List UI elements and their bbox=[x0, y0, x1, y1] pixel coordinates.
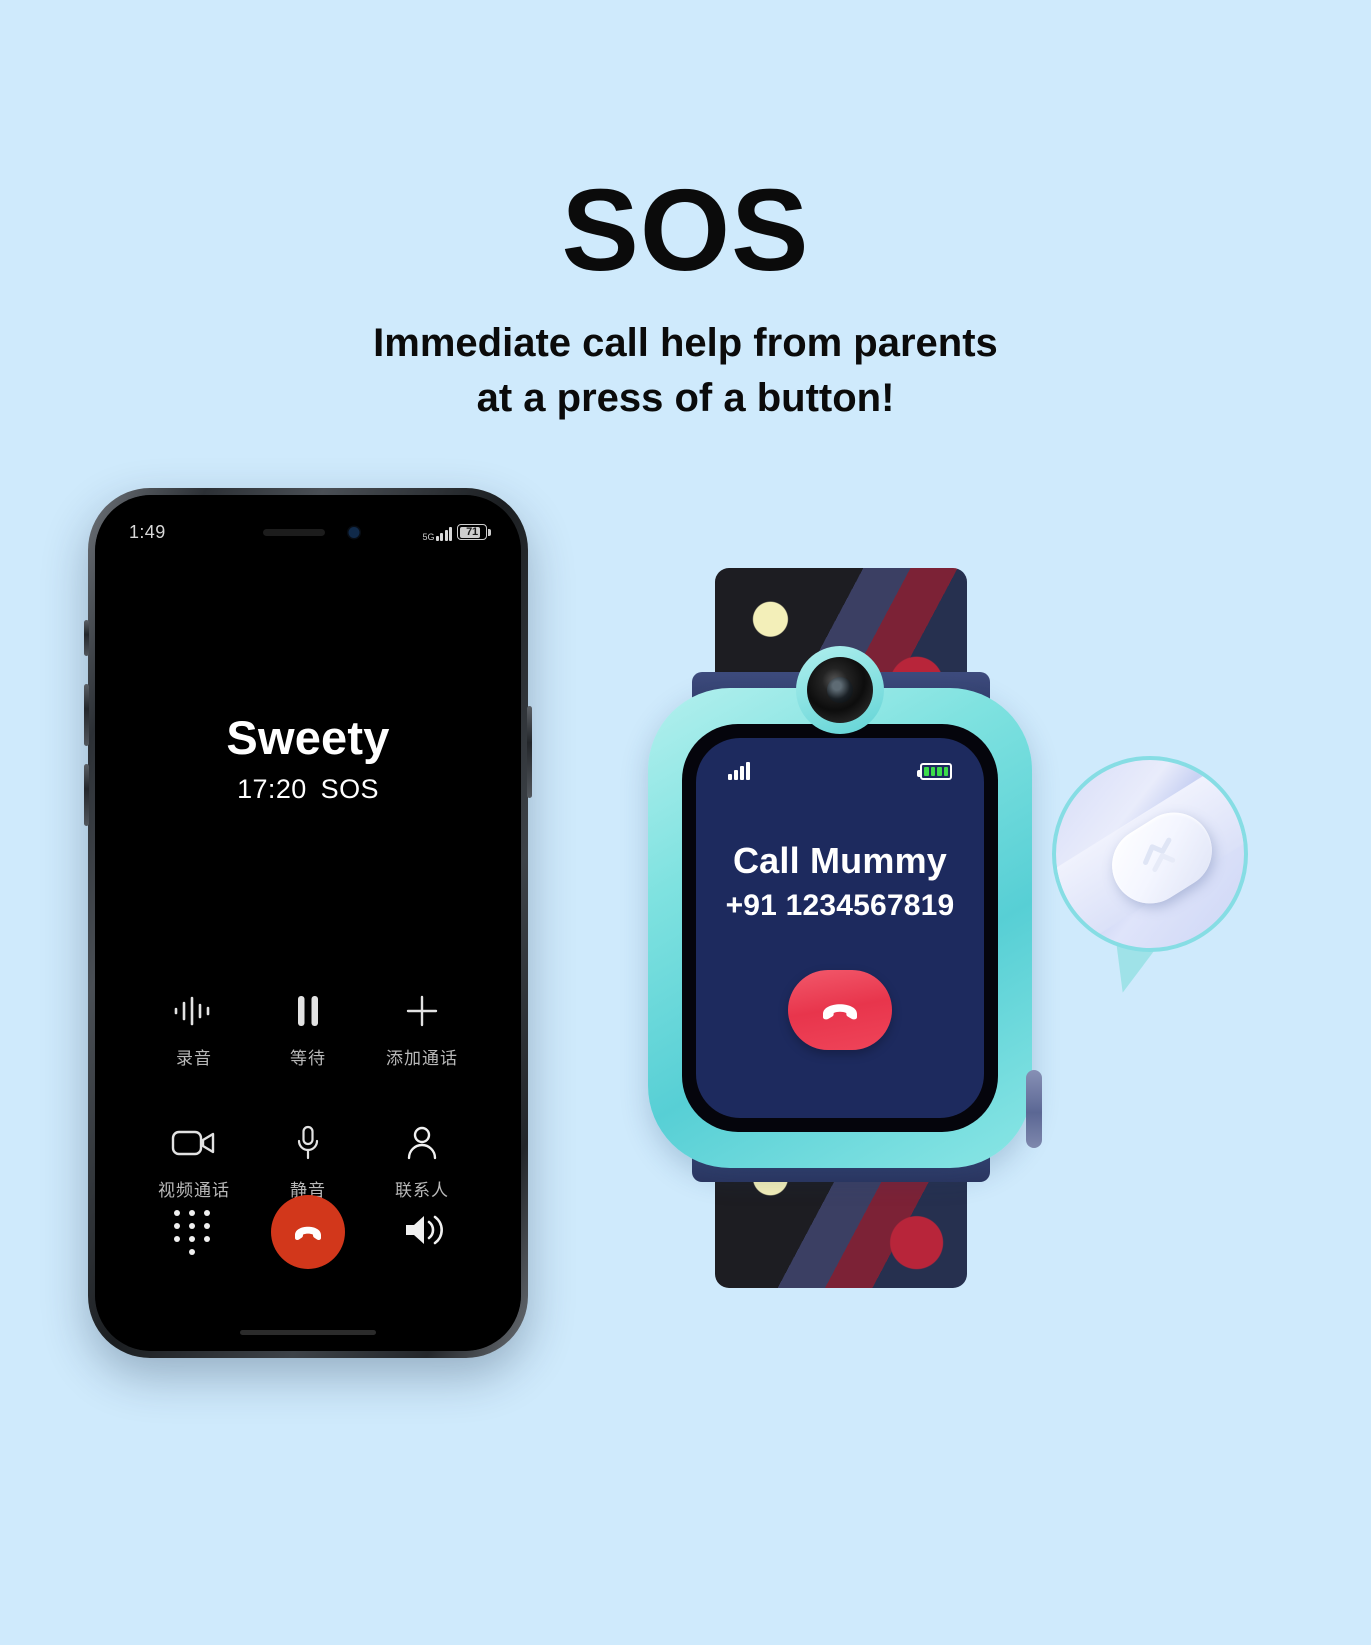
phone-bezel: 1:49 5G 71 bbox=[95, 495, 521, 1351]
call-action-video-call[interactable]: 视频通话 bbox=[137, 1125, 251, 1201]
signal-bars-icon: 5G bbox=[422, 523, 452, 541]
call-action-hold[interactable]: 等待 bbox=[251, 993, 365, 1069]
status-indicators: 5G 71 bbox=[422, 523, 487, 541]
smartphone-mockup: 1:49 5G 71 bbox=[88, 488, 528, 1358]
page-subtitle-line-2: at a press of a button! bbox=[0, 371, 1371, 426]
end-call-handset-icon bbox=[815, 987, 865, 1034]
watch-end-call-button[interactable] bbox=[788, 970, 892, 1050]
call-action-mute[interactable]: 静音 bbox=[251, 1125, 365, 1201]
record-waveform-icon bbox=[172, 993, 216, 1029]
network-type-label: 5G bbox=[422, 533, 434, 541]
phone-screen: 1:49 5G 71 bbox=[95, 495, 521, 1351]
call-status-line: 17:20SOS bbox=[95, 774, 521, 805]
call-bottom-bar bbox=[137, 1195, 479, 1269]
sos-side-button-icon[interactable] bbox=[1026, 1070, 1042, 1148]
call-duration: 17:20 bbox=[237, 774, 307, 804]
phone-status-bar: 1:49 5G 71 bbox=[95, 517, 521, 547]
signal-strength-bars bbox=[728, 762, 750, 780]
watch-screen: Call Mummy +91 1234567819 bbox=[696, 738, 984, 1118]
microphone-icon bbox=[295, 1125, 321, 1161]
call-action-add-call[interactable]: 添加通话 bbox=[365, 993, 479, 1069]
keypad-button[interactable] bbox=[137, 1210, 247, 1255]
page-header: SOS Immediate call help from parents at … bbox=[0, 0, 1371, 426]
signal-strength-bars bbox=[436, 527, 453, 541]
speaker-volume-icon bbox=[402, 1211, 446, 1254]
call-action-label: 录音 bbox=[176, 1044, 212, 1069]
video-camera-icon bbox=[171, 1125, 217, 1161]
phone-volume-up-button[interactable] bbox=[84, 684, 89, 746]
end-call-handset-icon bbox=[288, 1211, 328, 1254]
status-time: 1:49 bbox=[129, 522, 166, 543]
call-action-label: 添加通话 bbox=[386, 1044, 458, 1069]
watch-call-info: Call Mummy +91 1234567819 bbox=[696, 840, 984, 923]
call-action-record[interactable]: 录音 bbox=[137, 993, 251, 1069]
battery-icon bbox=[920, 763, 952, 780]
speaker-button[interactable] bbox=[369, 1211, 479, 1254]
page-title: SOS bbox=[0, 172, 1371, 288]
watch-bezel: Call Mummy +91 1234567819 bbox=[682, 724, 998, 1132]
sos-button-callout bbox=[1052, 756, 1248, 952]
phone-silent-switch[interactable] bbox=[84, 620, 89, 656]
watch-status-bar bbox=[696, 762, 984, 780]
call-action-contacts[interactable]: 联系人 bbox=[365, 1125, 479, 1201]
front-camera-icon bbox=[349, 527, 360, 538]
battery-percent-label: 71 bbox=[466, 526, 478, 538]
sos-glyph bbox=[1128, 825, 1196, 891]
call-actions-grid: 录音 等待 添加通话 bbox=[137, 993, 479, 1201]
phone-volume-down-button[interactable] bbox=[84, 764, 89, 826]
call-action-label: 等待 bbox=[290, 1044, 326, 1069]
camera-glass bbox=[827, 677, 853, 703]
signal-bars-icon bbox=[728, 762, 750, 780]
watch-case: Call Mummy +91 1234567819 bbox=[648, 688, 1032, 1168]
phone-body: 1:49 5G 71 bbox=[88, 488, 528, 1358]
plus-add-call-icon bbox=[404, 993, 440, 1029]
call-type-badge: SOS bbox=[321, 774, 379, 804]
home-indicator bbox=[240, 1330, 376, 1335]
caller-name: Sweety bbox=[95, 713, 521, 762]
smartwatch-mockup: Call Mummy +91 1234567819 bbox=[640, 568, 1040, 1288]
watch-camera-icon[interactable] bbox=[796, 646, 884, 734]
page-subtitle-line-1: Immediate call help from parents bbox=[0, 316, 1371, 371]
battery-icon: 71 bbox=[457, 524, 487, 540]
watch-call-number: +91 1234567819 bbox=[696, 889, 984, 923]
pause-hold-icon bbox=[293, 993, 323, 1029]
end-call-button[interactable] bbox=[271, 1195, 345, 1269]
watch-call-title: Call Mummy bbox=[696, 840, 984, 882]
phone-power-button[interactable] bbox=[527, 706, 532, 798]
caller-info: Sweety 17:20SOS bbox=[95, 713, 521, 805]
camera-lens bbox=[807, 657, 873, 723]
notch-speaker-icon bbox=[263, 529, 325, 536]
person-contacts-icon bbox=[406, 1125, 438, 1161]
page-subtitle: Immediate call help from parents at a pr… bbox=[0, 316, 1371, 426]
magnifier-callout-icon bbox=[1052, 756, 1248, 952]
dial-keypad-icon bbox=[174, 1210, 210, 1255]
